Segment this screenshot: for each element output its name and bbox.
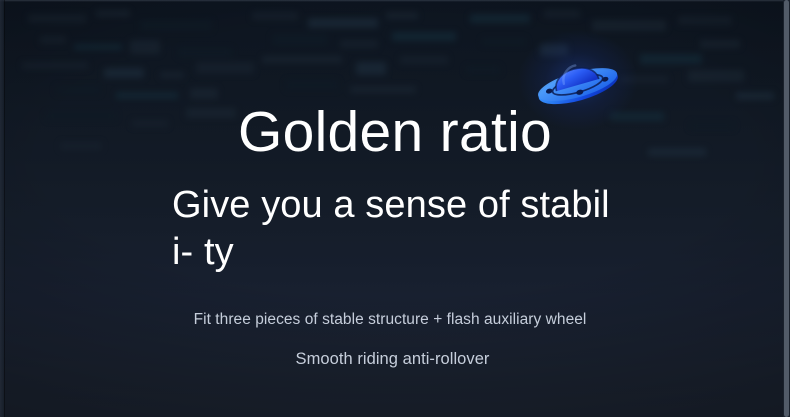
vertical-scrollbar-thumb[interactable] xyxy=(784,0,789,417)
vertical-scrollbar-track[interactable] xyxy=(783,0,790,417)
page-title: Golden ratio xyxy=(0,103,790,163)
promo-slide: Golden ratio Give you a sense of stabili… xyxy=(0,0,790,417)
page-subtitle: Give you a sense of stabili- ty xyxy=(172,182,612,276)
feature-text-secondary: Smooth riding anti-rollover xyxy=(0,350,785,369)
top-hairline xyxy=(0,0,790,2)
feature-text-primary: Fit three pieces of stable structure + f… xyxy=(0,311,780,329)
